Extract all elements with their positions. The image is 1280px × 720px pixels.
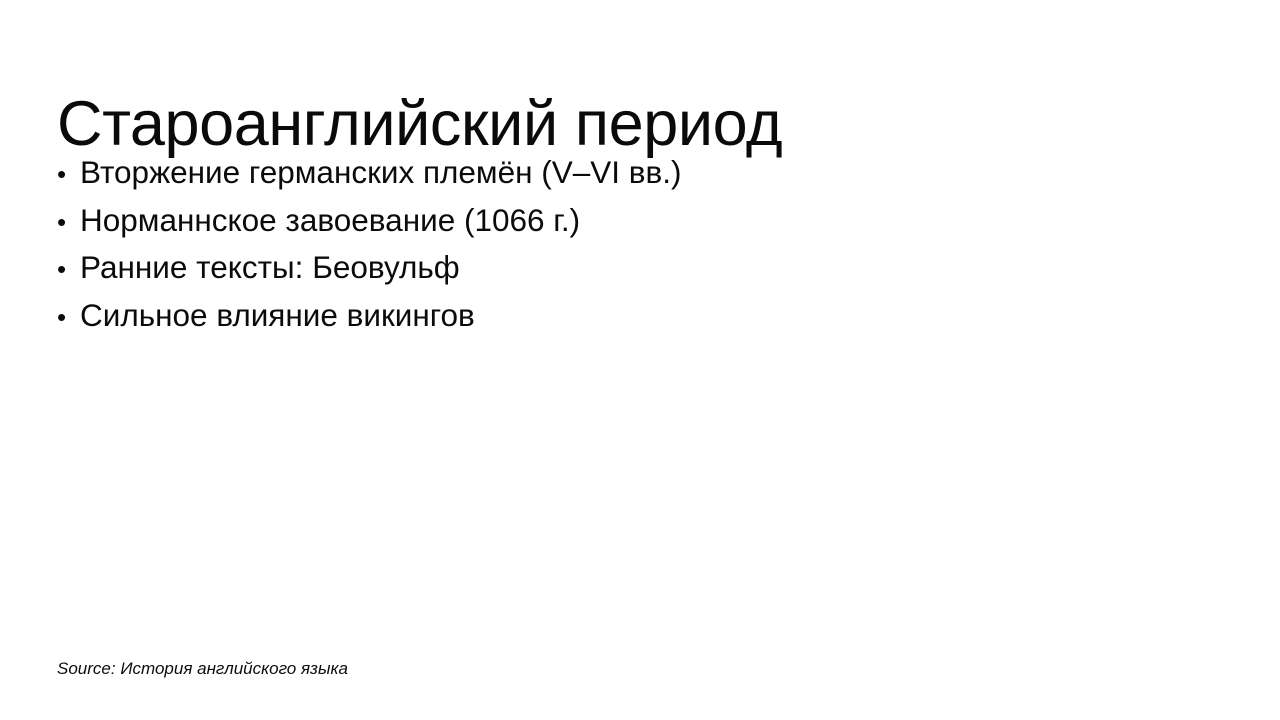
list-item: • Сильное влияние викингов [57, 295, 1217, 343]
bullet-list: • Вторжение германских племён (V–VI вв.)… [57, 152, 1217, 342]
bullet-point-icon: • [57, 249, 80, 289]
list-item: • Ранние тексты: Беовульф [57, 247, 1217, 295]
list-item-label: Ранние тексты: Беовульф [80, 247, 460, 287]
list-item-label: Сильное влияние викингов [80, 295, 475, 335]
source-label: Source: [57, 659, 116, 678]
source-attribution: Source: История английского языка [57, 657, 348, 681]
list-item-label: Норманнское завоевание (1066 г.) [80, 200, 580, 240]
bullet-point-icon: • [57, 297, 80, 337]
bullet-point-icon: • [57, 154, 80, 194]
list-item: • Вторжение германских племён (V–VI вв.) [57, 152, 1217, 200]
list-item-label: Вторжение германских племён (V–VI вв.) [80, 152, 681, 192]
list-item: • Норманнское завоевание (1066 г.) [57, 200, 1217, 248]
bullet-point-icon: • [57, 202, 80, 242]
source-value: История английского языка [120, 659, 348, 678]
presentation-slide: Староанглийский период • Вторжение герма… [0, 0, 1280, 720]
page-title: Староанглийский период [57, 90, 1217, 158]
